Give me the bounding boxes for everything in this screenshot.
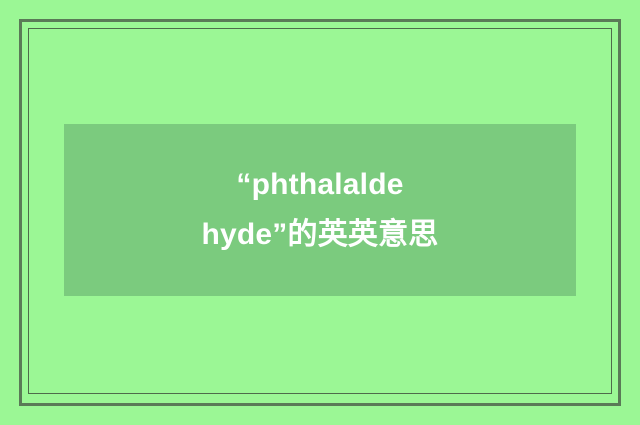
- image-card: “phthalalde hyde”的英英意思: [0, 0, 640, 425]
- content-panel: “phthalalde hyde”的英英意思: [64, 124, 576, 296]
- title-line-2: hyde”的英英意思: [82, 210, 558, 260]
- title-line-1: “phthalalde: [82, 160, 558, 210]
- title-block: “phthalalde hyde”的英英意思: [64, 160, 576, 260]
